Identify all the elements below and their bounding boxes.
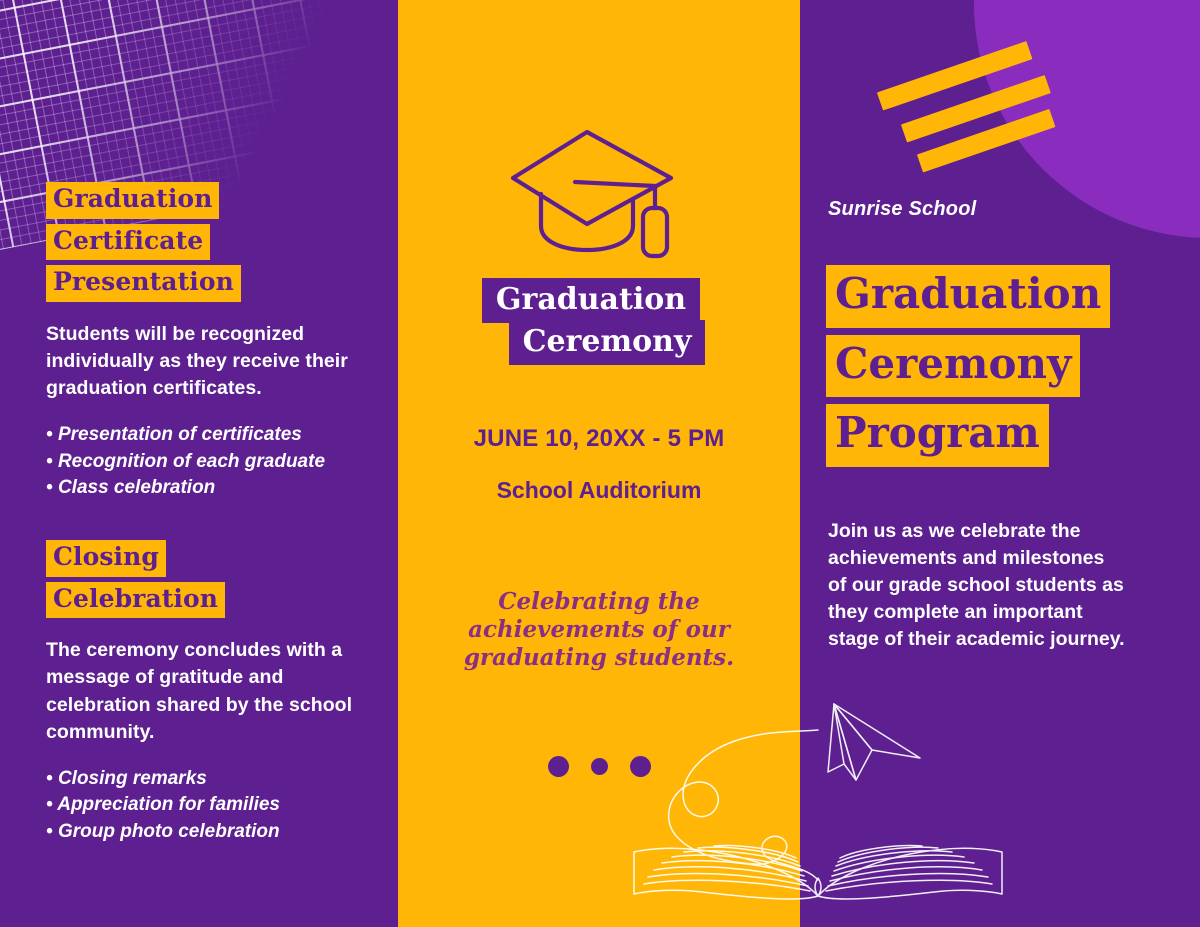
section-certificate-body: Students will be recognized individually… — [46, 321, 354, 403]
event-date: JUNE 10, 20XX - 5 PM — [398, 425, 800, 453]
section-closing-celebration: Closing Celebration The ceremony conclud… — [46, 540, 354, 845]
graduation-cap-icon — [505, 122, 695, 272]
program-title: Graduation Ceremony Program — [826, 265, 1186, 474]
left-panel: Graduation Certificate Presentation Stud… — [0, 0, 398, 927]
section-certificate-bullets: Presentation of certificates Recognition… — [46, 422, 354, 501]
heading-line: Ceremony — [826, 335, 1080, 398]
list-item: Presentation of certificates — [46, 422, 354, 448]
list-item: Closing remarks — [46, 766, 354, 792]
diagonal-stripes-icon — [872, 28, 1092, 168]
list-item: Group photo celebration — [46, 819, 354, 845]
heading-line: Graduation — [826, 265, 1110, 328]
brochure-trifold: Graduation Certificate Presentation Stud… — [0, 0, 1200, 927]
center-tagline: Celebrating the achievements of our grad… — [438, 588, 760, 672]
list-item: Class celebration — [46, 475, 354, 501]
heading-line: Program — [826, 404, 1049, 467]
dot-icon — [591, 758, 608, 775]
dot-separator — [398, 756, 800, 777]
heading-line: Celebration — [46, 582, 225, 619]
center-title-line: Graduation — [482, 278, 700, 323]
heading-line: Closing — [46, 540, 166, 577]
event-venue: School Auditorium — [398, 477, 800, 504]
section-certificate-heading: Graduation Certificate Presentation — [46, 182, 354, 307]
heading-line: Graduation — [46, 182, 219, 219]
program-intro: Join us as we celebrate the achievements… — [828, 518, 1128, 653]
center-title: Graduation Ceremony — [398, 278, 800, 365]
program-title-heading: Graduation Ceremony Program — [826, 265, 1186, 474]
center-title-line: Ceremony — [509, 320, 706, 365]
list-item: Recognition of each graduate — [46, 449, 354, 475]
section-closing-body: The ceremony concludes with a message of… — [46, 637, 354, 746]
heading-line: Certificate — [46, 224, 210, 261]
heading-line: Presentation — [46, 265, 241, 302]
section-closing-heading: Closing Celebration — [46, 540, 354, 623]
list-item: Appreciation for families — [46, 792, 354, 818]
section-certificate-presentation: Graduation Certificate Presentation Stud… — [46, 182, 354, 501]
section-closing-bullets: Closing remarks Appreciation for familie… — [46, 766, 354, 845]
school-name: Sunrise School — [828, 198, 976, 221]
dot-icon — [630, 756, 651, 777]
dot-icon — [548, 756, 569, 777]
